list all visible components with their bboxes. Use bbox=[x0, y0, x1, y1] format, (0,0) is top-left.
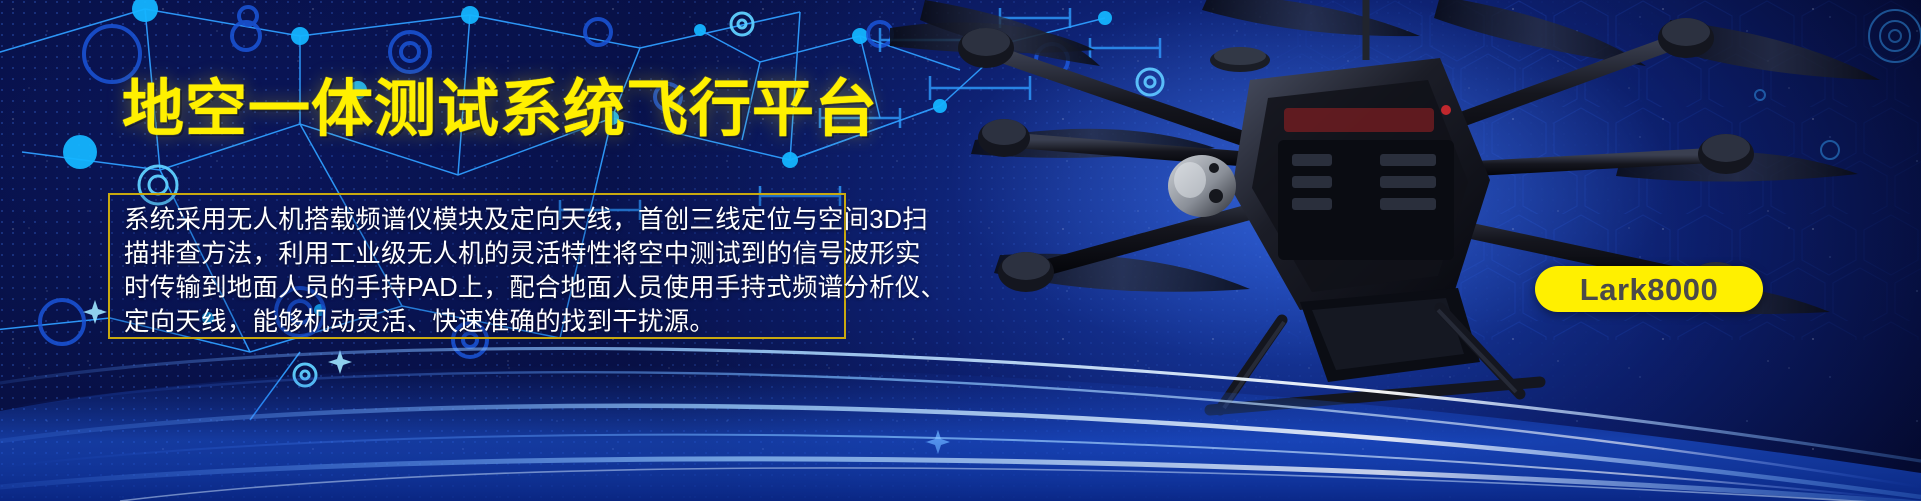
description-line: 系统采用无人机搭载频谱仪模块及定向天线，首创三线定位与空间3D扫 bbox=[124, 203, 832, 237]
product-model-label: Lark8000 bbox=[1580, 274, 1718, 305]
page-title: 地空一体测试系统飞行平台 bbox=[122, 78, 878, 142]
description-box: 系统采用无人机搭载频谱仪模块及定向天线，首创三线定位与空间3D扫 描排查方法，利… bbox=[108, 193, 846, 339]
promo-banner: 地空一体测试系统飞行平台 系统采用无人机搭载频谱仪模块及定向天线，首创三线定位与… bbox=[0, 0, 1921, 501]
description-line: 时传输到地面人员的手持PAD上，配合地面人员使用手持式频谱分析仪、 bbox=[124, 271, 832, 305]
description-line: 描排查方法，利用工业级无人机的灵活特性将空中测试到的信号波形实 bbox=[124, 237, 832, 271]
description-line: 定向天线，能够机动灵活、快速准确的找到干扰源。 bbox=[124, 305, 832, 339]
hexacopter-drone-photo bbox=[880, 0, 1921, 420]
product-model-badge: Lark8000 bbox=[1535, 266, 1763, 312]
